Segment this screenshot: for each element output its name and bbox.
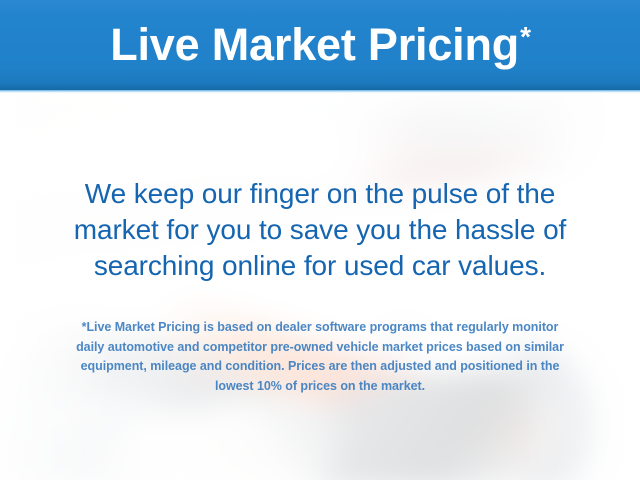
disclaimer-line-4: lowest 10% of prices on the market. xyxy=(20,377,620,397)
header-bar: Live Market Pricing* xyxy=(0,0,640,90)
disclaimer-line-1: *Live Market Pricing is based on dealer … xyxy=(20,318,620,338)
disclaimer-line-2: daily automotive and competitor pre-owne… xyxy=(20,338,620,358)
page-title-text: Live Market Pricing xyxy=(110,19,519,70)
background-photo xyxy=(0,88,640,480)
page-title: Live Market Pricing* xyxy=(110,22,530,67)
headline-line-3: searching online for used car values. xyxy=(30,248,610,284)
page-title-asterisk: * xyxy=(520,21,531,52)
live-market-pricing-banner: Live Market Pricing* We keep our finger … xyxy=(0,0,640,480)
disclaimer-line-3: equipment, mileage and condition. Prices… xyxy=(20,357,620,377)
headline-text: We keep our finger on the pulse of the m… xyxy=(30,176,610,284)
headline-line-1: We keep our finger on the pulse of the xyxy=(30,176,610,212)
disclaimer-text: *Live Market Pricing is based on dealer … xyxy=(20,318,620,396)
header-underline xyxy=(0,90,640,93)
headline-line-2: market for you to save you the hassle of xyxy=(30,212,610,248)
